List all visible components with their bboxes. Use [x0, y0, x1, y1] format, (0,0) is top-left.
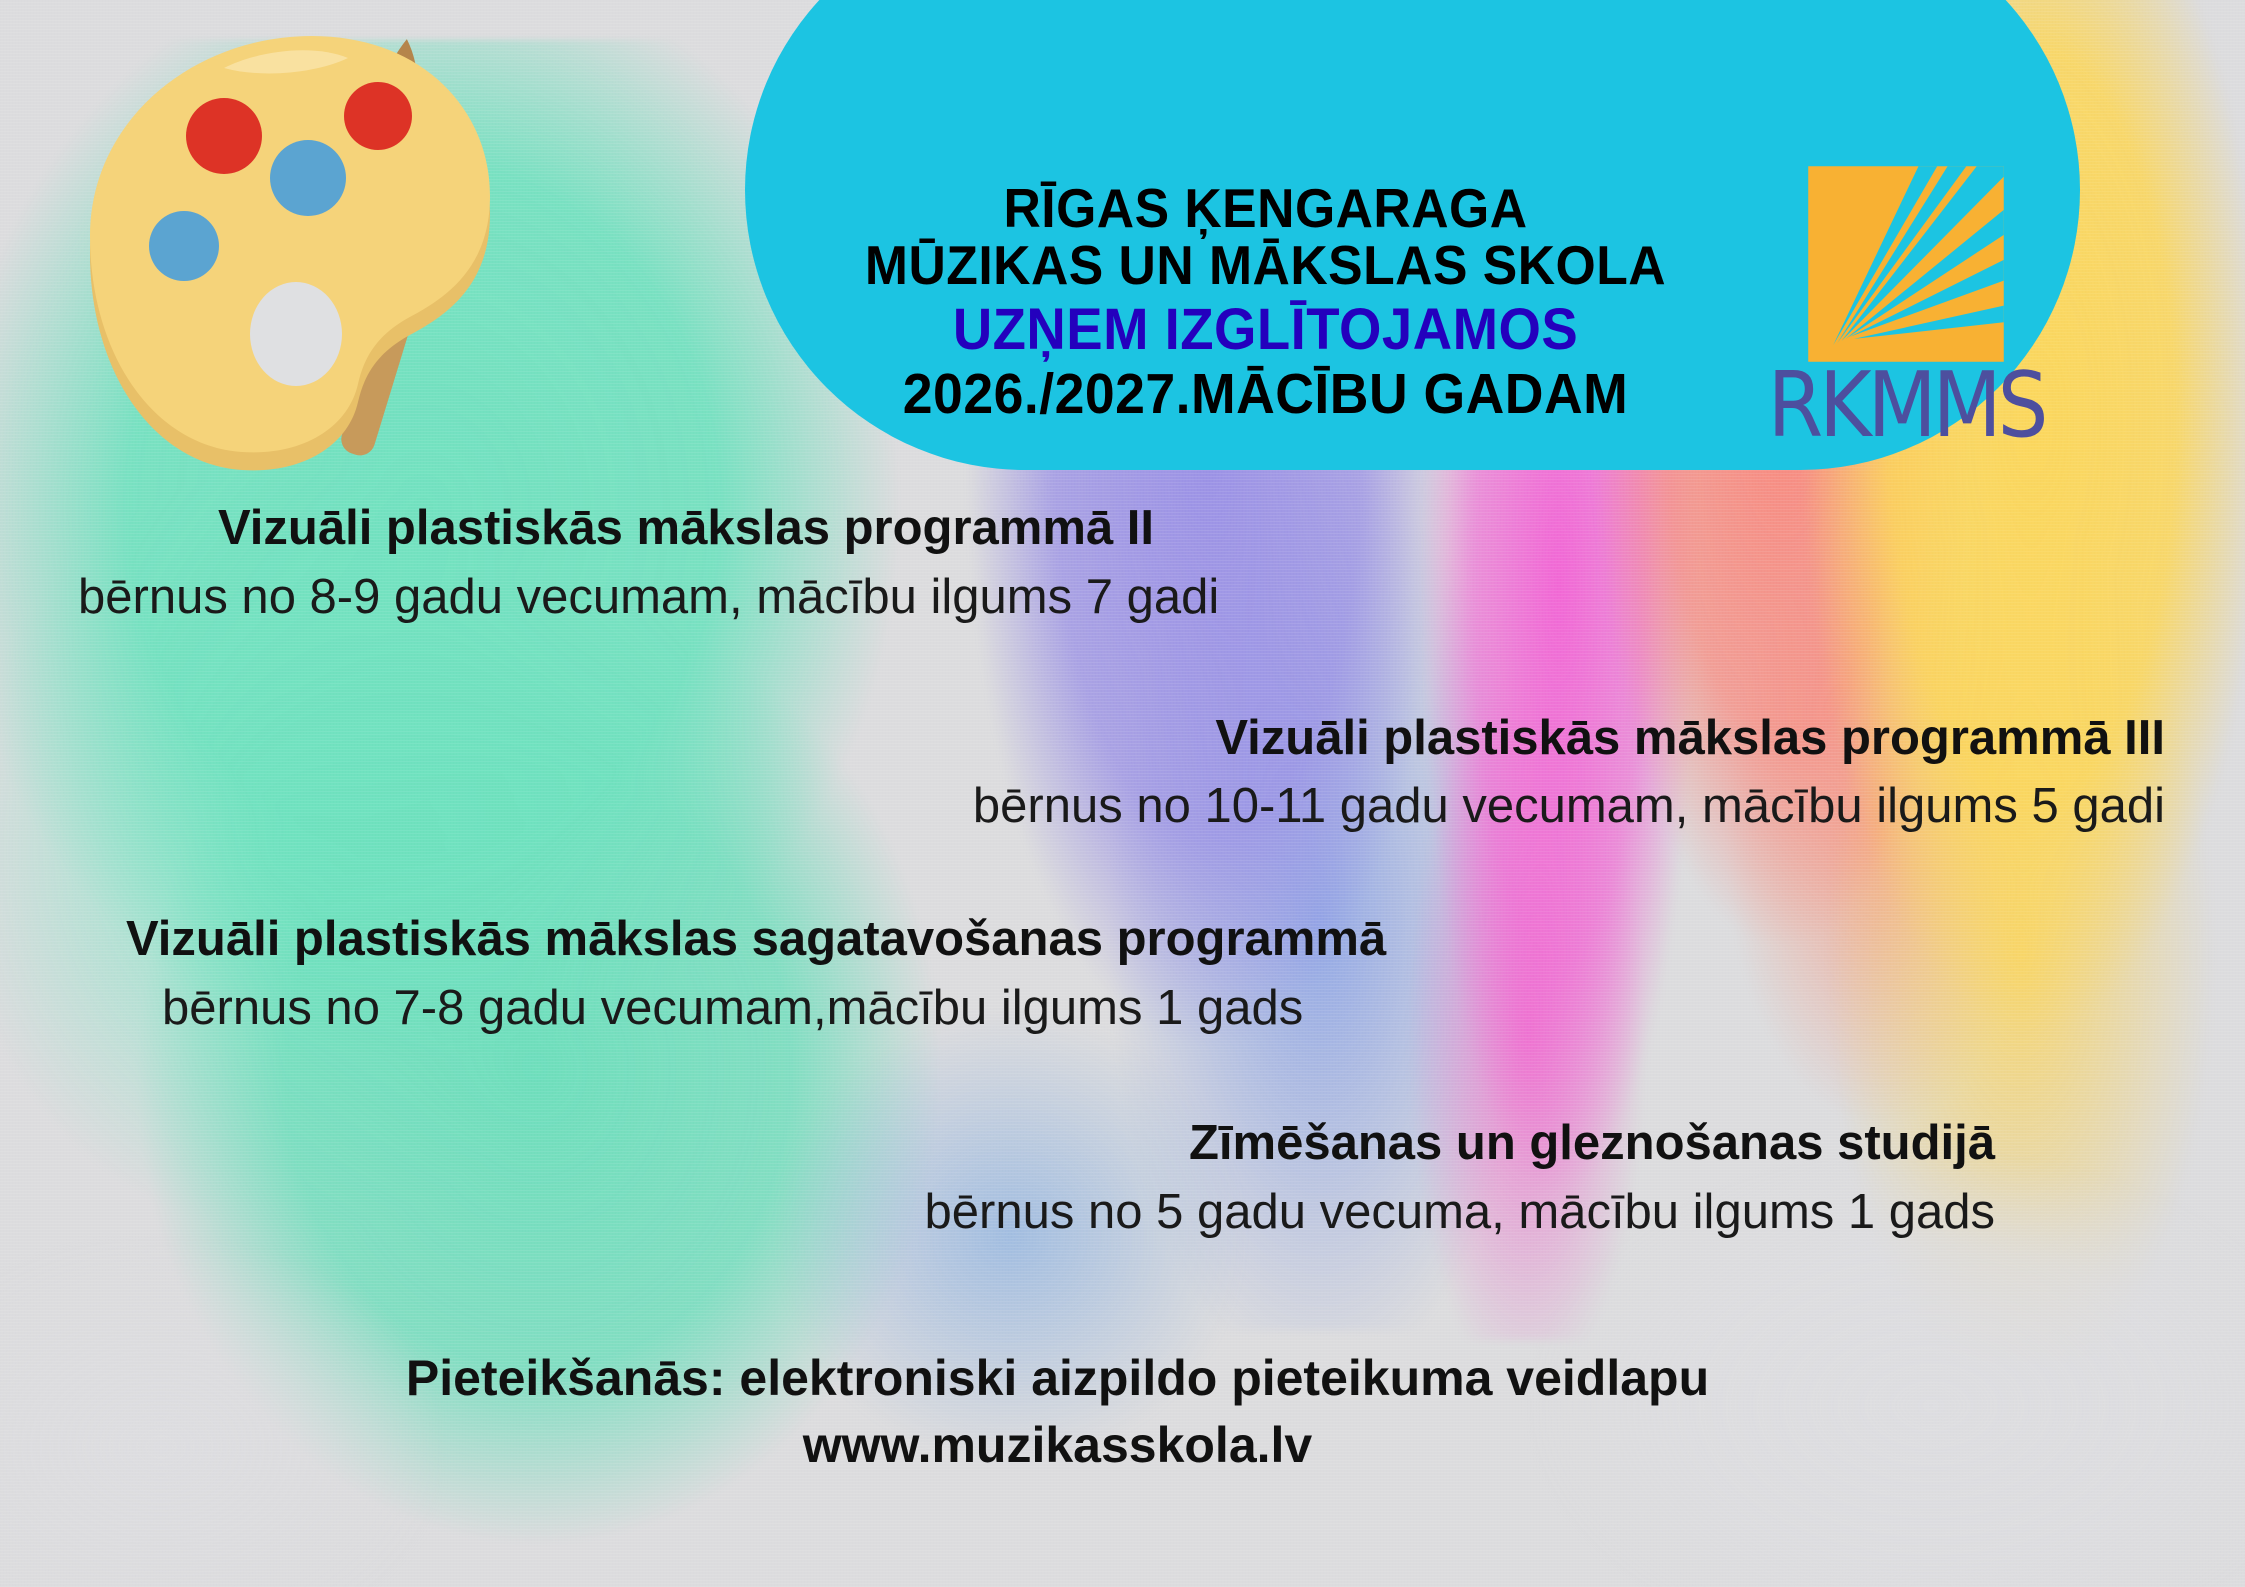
program-detail: bērnus no 5 gadu vecuma, mācību ilgums 1… [0, 1172, 1995, 1241]
palette-paint-blue-2 [149, 211, 219, 281]
footer-block: Pieteikšanās: elektroniski aizpildo piet… [0, 1345, 2245, 1479]
program-block: Vizuāli plastiskās mākslas programmā III… [0, 710, 2165, 836]
program-title: Zīmēšanas un gleznošanas studijā [0, 1115, 1995, 1172]
program-title: Vizuāli plastiskās mākslas sagatavošanas… [126, 911, 2245, 968]
program-title: Vizuāli plastiskās mākslas programmā II [218, 500, 2245, 557]
palette-paint-red-1 [186, 98, 262, 174]
header-line-school-city: RĪGAS ĶENGARAGA [804, 180, 1726, 237]
header-line-call-to-action: UZŅEM IZGLĪTOJAMOS [804, 294, 1726, 360]
program-detail: bērnus no 8-9 gadu vecumam, mācību ilgum… [78, 557, 2245, 626]
program-detail: bērnus no 10-11 gadu vecumam, mācību ilg… [0, 766, 2165, 835]
palette-paint-red-2 [344, 82, 412, 150]
program-block: Vizuāli plastiskās mākslas sagatavošanas… [126, 911, 2245, 1037]
school-logo: RKMMS [1756, 160, 2056, 444]
rkmms-wordmark: RKMMS [1768, 368, 2045, 444]
header-banner: RĪGAS ĶENGARAGA MŪZIKAS UN MĀKSLAS SKOLA… [745, 0, 2080, 470]
program-detail: bērnus no 7-8 gadu vecumam,mācību ilgums… [162, 968, 2245, 1037]
website-url[interactable]: www.muzikasskola.lv [0, 1412, 2115, 1479]
header-line-school-name: MŪZIKAS UN MĀKSLAS SKOLA [804, 237, 1726, 294]
program-block: Vizuāli plastiskās mākslas programmā II … [78, 500, 2245, 626]
palette-paint-blue-1 [270, 140, 346, 216]
paint-palette-icon [46, 6, 566, 476]
palette-thumb-hole [250, 282, 342, 386]
program-title: Vizuāli plastiskās mākslas programmā III [0, 710, 2165, 767]
rkmms-logo-icon [1802, 160, 2010, 368]
header-line-school-year: 2026./2027.MĀCĪBU GADAM [804, 361, 1726, 424]
header-title-group: RĪGAS ĶENGARAGA MŪZIKAS UN MĀKSLAS SKOLA… [775, 180, 1756, 424]
poster-canvas: RĪGAS ĶENGARAGA MŪZIKAS UN MĀKSLAS SKOLA… [0, 0, 2245, 1587]
programs-list: Vizuāli plastiskās mākslas programmā II … [0, 500, 2245, 1479]
application-instructions: Pieteikšanās: elektroniski aizpildo piet… [0, 1345, 2115, 1412]
program-block: Zīmēšanas un gleznošanas studijā bērnus … [0, 1115, 1995, 1241]
